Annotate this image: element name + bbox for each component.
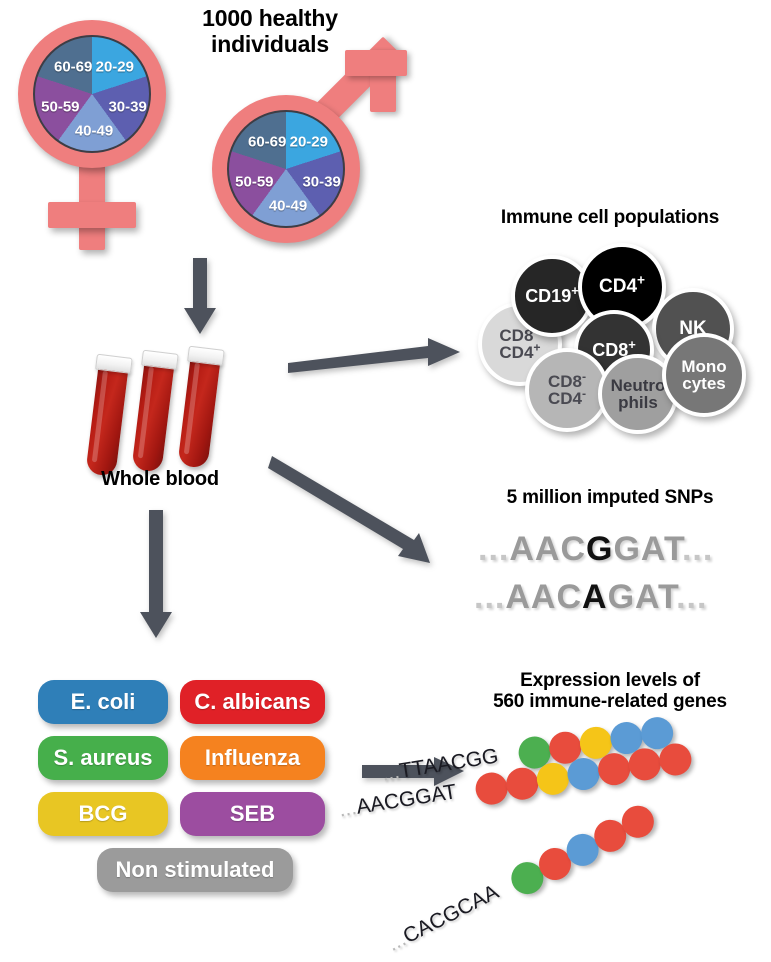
immune-cell-label: CD8+CD4+ [499, 327, 540, 362]
age-slice-label-30-39: 30-39 [108, 98, 146, 115]
expression-bead [561, 828, 604, 871]
stimulation-seb[interactable]: SEB [180, 792, 325, 836]
snp-suffix-ellipsis: ... [682, 530, 713, 568]
expression-bead [535, 761, 572, 798]
snp-sequence-block: ...AACGGAT......AACAGAT... [470, 530, 760, 625]
snp-variant-base: A [582, 578, 608, 616]
expression-bead [533, 842, 576, 885]
expression-bead [616, 800, 659, 843]
immune-cell-cd19: CD19+ [511, 255, 593, 337]
snp-prefix-bases: AAC [505, 578, 582, 616]
age-slice-label-20-29: 20-29 [96, 59, 134, 76]
age-slice-label-50-59: 50-59 [235, 173, 273, 190]
stimulation-label: Influenza [205, 745, 300, 771]
whole-blood-tubes [98, 340, 258, 470]
snp-prefix-bases: AAC [509, 530, 586, 568]
expression-title-line-1: Expression levels of [455, 670, 765, 691]
expression-bead [639, 715, 676, 752]
male-age-pie: 20-2930-3940-4950-5960-69 [227, 110, 345, 228]
expression-bead [578, 725, 615, 762]
expression-bead [504, 765, 541, 802]
expression-chain-sequence: ...CACGCAA [384, 880, 503, 956]
immune-cell-label: CD8+ [592, 341, 636, 359]
expression-chain: ...CACGCAA [508, 888, 509, 889]
expression-bead [506, 857, 549, 900]
sequence-bases: CACGCAA [399, 880, 502, 948]
stimulation-label: BCG [79, 801, 128, 827]
arrow-blood-to-snps [272, 456, 462, 566]
immune-cell-label: CD19+ [525, 287, 579, 305]
snp-prefix-ellipsis: ... [478, 530, 509, 568]
age-slice-label-60-69: 60-69 [54, 59, 92, 76]
immune-cell-cd8-cd4: CD8-CD4- [525, 348, 609, 432]
stimulation-label: Non stimulated [116, 857, 275, 883]
expression-title-line-2: 560 immune-related genes [455, 691, 765, 712]
cohort-title-line-1: 1000 healthy [160, 6, 380, 32]
stimulation-influenza[interactable]: Influenza [180, 736, 325, 780]
age-slice-label-50-59: 50-59 [41, 98, 79, 115]
snp-prefix-ellipsis: ... [474, 578, 505, 616]
snp-sequence-row: ...AACAGAT... [474, 578, 707, 617]
stimulation-label: SEB [230, 801, 275, 827]
immune-populations-title: Immune cell populations [455, 207, 765, 228]
expression-bead [516, 734, 553, 771]
expression-bead [473, 770, 510, 807]
arrow-cohort-to-blood [172, 258, 228, 336]
immune-cell-label: NK [679, 319, 706, 338]
arrow-blood-to-immune [288, 336, 463, 376]
snp-suffix-bases: GAT [608, 578, 676, 616]
sequence-ellipsis: ... [337, 796, 358, 821]
expression-bead [626, 746, 663, 783]
whole-blood-label: Whole blood [55, 468, 265, 490]
stimulation-c-albicans[interactable]: C. albicans [180, 680, 325, 724]
immune-cell-monocytes: Monocytes [662, 333, 746, 417]
immune-cell-label: CD8-CD4- [548, 373, 586, 408]
snps-title: 5 million imputed SNPs [455, 487, 765, 508]
stimulation-label: S. aureus [53, 745, 152, 771]
female-symbol: 20-2930-3940-4950-5960-69 [8, 12, 183, 247]
expression-bead [657, 741, 694, 778]
snp-suffix-bases: GAT [613, 530, 681, 568]
snp-suffix-ellipsis: ... [676, 578, 707, 616]
sequence-ellipsis: ... [384, 928, 410, 956]
immune-cell-label: Neutrophils [611, 377, 666, 412]
arrow-stimulations-to-expression [362, 752, 466, 792]
age-slice-label-30-39: 30-39 [302, 173, 340, 190]
expression-bead [547, 729, 584, 766]
female-symbol-crossbar [48, 202, 136, 228]
immune-cell-nk: NK [652, 288, 734, 370]
stimulation-label: C. albicans [194, 689, 310, 715]
expression-title: Expression levels of 560 immune-related … [455, 670, 765, 713]
stimulation-non-stimulated[interactable]: Non stimulated [97, 848, 293, 892]
expression-chain: ...AACGGAT [470, 792, 471, 793]
immune-cell-cd4: CD4+ [578, 243, 666, 331]
immune-cell-label: CD4+ [599, 277, 645, 296]
age-slice-label-40-49: 40-49 [269, 198, 307, 215]
immune-cell-neutrophils: Neutrophils [598, 354, 678, 434]
stimulation-bcg[interactable]: BCG [38, 792, 168, 836]
stimulation-s-aureus[interactable]: S. aureus [38, 736, 168, 780]
expression-bead [596, 751, 633, 788]
immune-cell-cd8: CD8+ [574, 310, 654, 390]
age-slice-label-40-49: 40-49 [75, 123, 113, 140]
expression-bead [589, 814, 632, 857]
stimulation-label: E. coli [71, 689, 136, 715]
male-symbol-arrowhead-horizontal [345, 50, 407, 76]
immune-cell-cd8-cd4: CD8+CD4+ [478, 302, 562, 386]
expression-bead [565, 756, 602, 793]
immune-cell-label: Monocytes [681, 358, 726, 393]
female-age-pie: 20-2930-3940-4950-5960-69 [33, 35, 151, 153]
expression-chain: ...TTAACGG [513, 756, 514, 757]
male-symbol: 20-2930-3940-4950-5960-69 [200, 45, 420, 255]
expression-bead [608, 720, 645, 757]
age-slice-label-60-69: 60-69 [248, 134, 286, 151]
arrow-blood-to-stimulations [128, 510, 184, 640]
stimulation-e-coli[interactable]: E. coli [38, 680, 168, 724]
age-slice-label-20-29: 20-29 [290, 134, 328, 151]
snp-sequence-row: ...AACGGAT... [478, 530, 713, 569]
snp-variant-base: G [586, 530, 613, 568]
